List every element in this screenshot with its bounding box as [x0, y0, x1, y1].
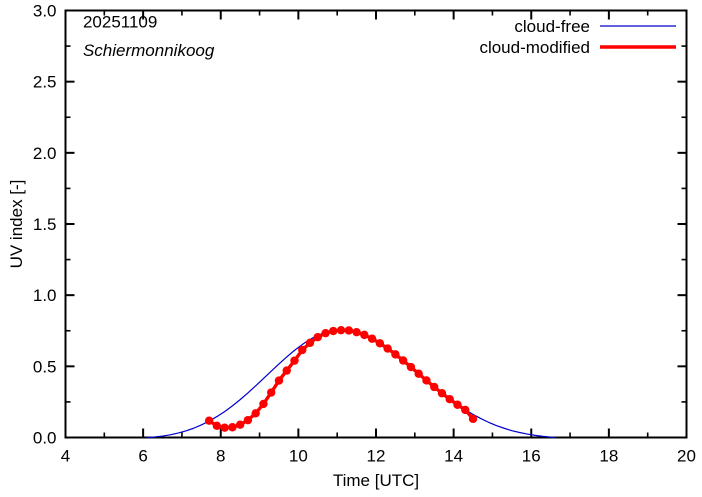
- x-tick-label: 18: [599, 447, 618, 466]
- data-point: [213, 422, 221, 430]
- data-point: [453, 401, 461, 409]
- data-point: [360, 331, 368, 339]
- data-point: [251, 409, 259, 417]
- data-point: [290, 356, 298, 364]
- data-point: [414, 370, 422, 378]
- data-point: [446, 395, 454, 403]
- data-point: [337, 326, 345, 334]
- y-axis-tick-labels: 0.00.51.01.52.02.53.0: [33, 2, 57, 448]
- x-tick-label: 6: [138, 447, 147, 466]
- y-tick-label: 0.5: [33, 357, 57, 376]
- y-tick-label: 2.5: [33, 73, 57, 92]
- data-point: [314, 333, 322, 341]
- x-tick-label: 16: [522, 447, 541, 466]
- plot-frame: [66, 11, 687, 438]
- chart-canvas: 0.00.51.01.52.02.53.0 468101214161820 20…: [0, 0, 702, 497]
- legend-label-cloud-free: cloud-free: [514, 17, 590, 36]
- legend-label-cloud-modified: cloud-modified: [479, 38, 590, 57]
- data-point: [430, 383, 438, 391]
- uv-index-chart: 0.00.51.01.52.02.53.0 468101214161820 20…: [0, 0, 702, 497]
- x-tick-label: 8: [216, 447, 225, 466]
- data-point: [469, 415, 477, 423]
- data-point: [345, 326, 353, 334]
- series-cloud-modified: [205, 326, 477, 432]
- x-tick-label: 10: [289, 447, 308, 466]
- data-point: [236, 420, 244, 428]
- data-point: [275, 376, 283, 384]
- data-point: [376, 339, 384, 347]
- annotation-station: Schiermonnikoog: [83, 41, 215, 60]
- x-tick-label: 14: [444, 447, 463, 466]
- y-tick-label: 2.0: [33, 144, 57, 163]
- series-line: [209, 330, 473, 428]
- data-point: [399, 356, 407, 364]
- y-tick-label: 1.0: [33, 286, 57, 305]
- y-axis-title: UV index [-]: [7, 180, 26, 269]
- data-point: [259, 400, 267, 408]
- axis-tickmarks: [66, 11, 687, 438]
- data-point: [461, 406, 469, 414]
- y-tick-label: 3.0: [33, 2, 57, 21]
- plot-annotations: 20251109Schiermonnikoog: [83, 13, 215, 60]
- data-point: [391, 350, 399, 358]
- data-point: [205, 417, 213, 425]
- data-point: [283, 366, 291, 374]
- data-point: [228, 423, 236, 431]
- data-point: [329, 327, 337, 335]
- y-tick-label: 1.5: [33, 215, 57, 234]
- x-tick-label: 20: [677, 447, 696, 466]
- y-tick-label: 0.0: [33, 429, 57, 448]
- data-point: [352, 328, 360, 336]
- data-point: [407, 363, 415, 371]
- annotation-date: 20251109: [83, 13, 157, 32]
- x-axis-title: Time [UTC]: [333, 471, 419, 490]
- data-point: [383, 344, 391, 352]
- chart-legend: cloud-freecloud-modified: [479, 17, 676, 57]
- data-series-layer: [147, 326, 555, 438]
- data-point: [422, 376, 430, 384]
- x-tick-label: 4: [61, 447, 70, 466]
- data-point: [368, 335, 376, 343]
- data-point: [438, 389, 446, 397]
- data-point: [298, 346, 306, 354]
- data-point: [244, 416, 252, 424]
- x-axis-tick-labels: 468101214161820: [61, 447, 696, 466]
- data-point: [267, 388, 275, 396]
- data-point: [321, 329, 329, 337]
- x-tick-label: 12: [367, 447, 386, 466]
- data-point: [306, 339, 314, 347]
- data-point: [220, 423, 228, 431]
